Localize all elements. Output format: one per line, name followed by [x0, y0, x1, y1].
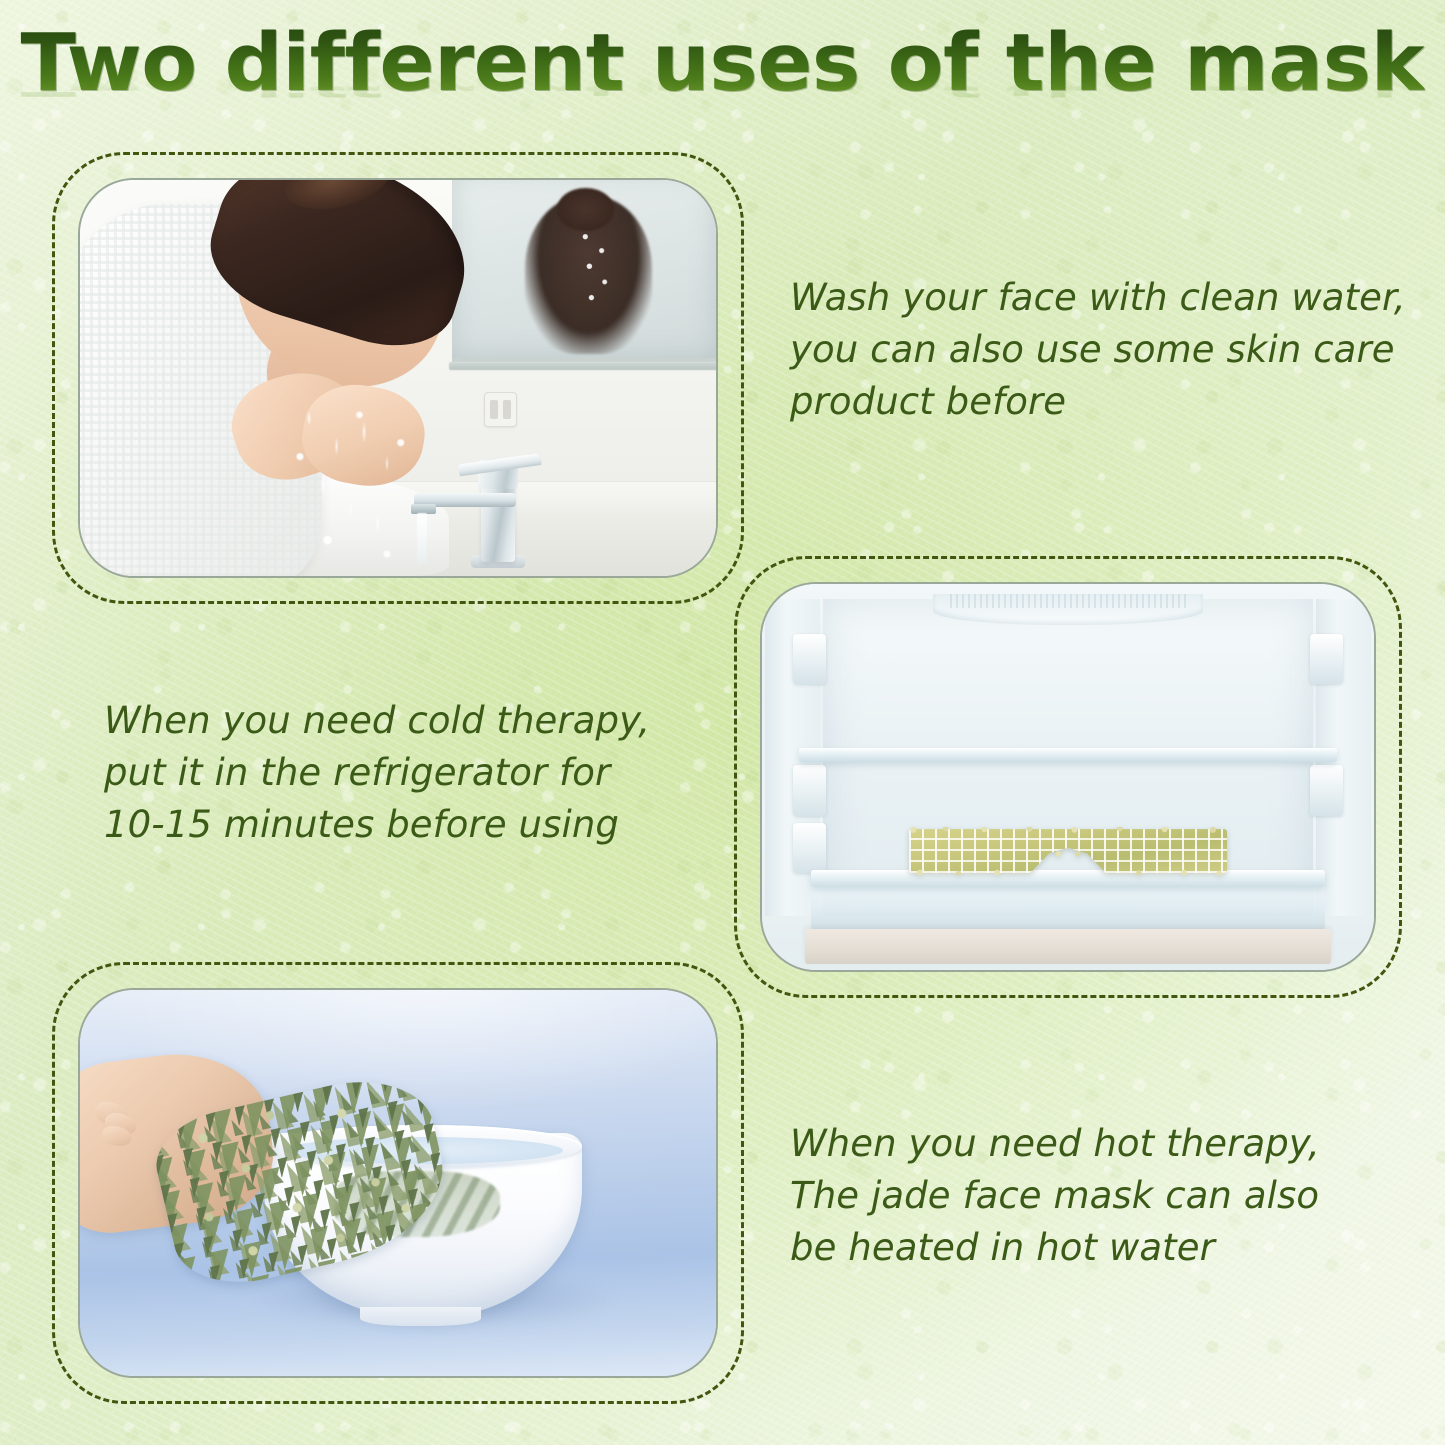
mirror-water-drops [570, 228, 621, 315]
page-title: Two different uses of the mask [21, 24, 1425, 103]
wall-outlet [484, 392, 517, 428]
refrigerator-scene [762, 584, 1374, 970]
jade-mask-beads [907, 827, 1229, 875]
fridge-top-vent [933, 594, 1202, 625]
fridge-middle-shelf [799, 748, 1338, 762]
jade-eye-mask [909, 829, 1227, 873]
caption-cold-therapy: When you need cold therapy, put it in th… [104, 695, 704, 850]
caption-wash-face: Wash your face with clean water, you can… [790, 272, 1410, 427]
page-title-wrap: Two different uses of the mask Two diffe… [0, 24, 1445, 103]
bowl-foot [360, 1307, 481, 1326]
caption-hot-therapy: When you need hot therapy, The jade face… [790, 1118, 1370, 1273]
faucet-body [481, 479, 515, 562]
fridge-shelf-rail [793, 634, 827, 684]
woman-washing-face-photo [78, 178, 718, 578]
infographic-canvas: Two different uses of the mask Two diffe… [0, 0, 1445, 1445]
fridge-floor [805, 929, 1331, 964]
bathroom-scene [80, 180, 716, 576]
fridge-shelf-rail [1310, 634, 1344, 684]
bowl-scene [80, 990, 716, 1376]
jade-mask-in-bowl-photo [78, 988, 718, 1378]
faucet-water-stream [417, 513, 427, 564]
fridge-shelf-rail [1310, 765, 1344, 815]
fridge-shelf-rail [793, 765, 827, 815]
refrigerator-interior-photo [760, 582, 1376, 972]
fridge-shelf-rail [793, 823, 827, 873]
mirror-edge [449, 362, 718, 370]
